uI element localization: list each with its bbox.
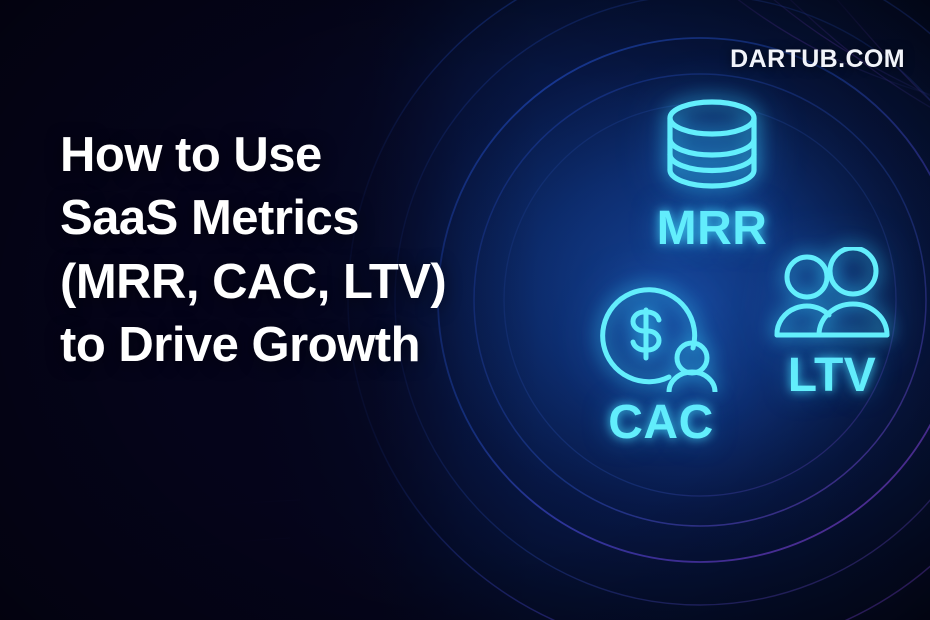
metric-cac-label: CAC (566, 399, 756, 447)
title-line-1: How to Use (60, 124, 520, 187)
dollar-coin-person-icon (566, 274, 756, 397)
metric-ltv-label: LTV (744, 352, 920, 400)
users-group-icon (744, 247, 920, 350)
thumbnail-canvas: DARTUB.COM How to Use SaaS Metrics (MRR,… (0, 0, 930, 620)
title-line-4: to Drive Growth (60, 314, 520, 377)
brand-watermark: DARTUB.COM (730, 45, 905, 74)
title-line-2: SaaS Metrics (60, 187, 520, 250)
metric-ltv: LTV (744, 247, 920, 400)
metric-mrr-label: MRR (612, 205, 812, 253)
title-line-3: (MRR, CAC, LTV) (60, 251, 520, 314)
metric-cac: CAC (566, 274, 756, 447)
metric-mrr: MRR (612, 96, 812, 253)
database-stack-icon (612, 96, 812, 201)
page-title: How to Use SaaS Metrics (MRR, CAC, LTV) … (60, 124, 520, 378)
